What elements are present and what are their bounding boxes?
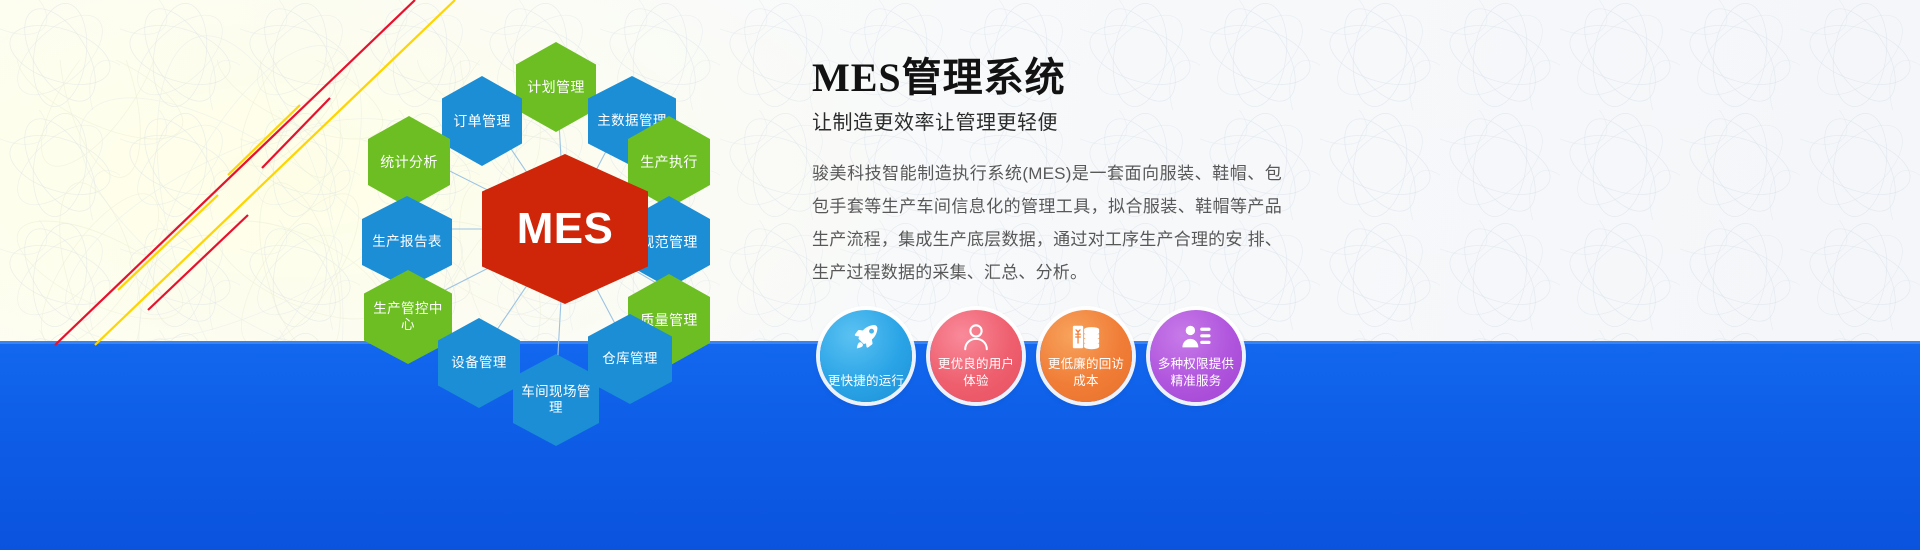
feature-badge-2[interactable]: 更低廉的回访成本: [1040, 310, 1132, 402]
feature-badge-3[interactable]: 多种权限提供精准服务: [1150, 310, 1242, 402]
page-title: MES管理系统: [812, 56, 1282, 100]
user-icon: [961, 322, 991, 352]
mes-banner: 计划管理 订单管理 主数据管理 生产执行 统计分析 规范管理 生产报告表 质量管…: [0, 0, 1920, 550]
hex-node-label: 设备管理: [447, 355, 511, 371]
hex-node-label: 统计分析: [376, 154, 442, 171]
feature-badge-0[interactable]: 更快捷的运行: [820, 310, 912, 402]
page-description: 骏美科技智能制造执行系统(MES)是一套面向服装、鞋帽、包包手套等生产车间信息化…: [812, 157, 1282, 290]
feature-badge-label: 更快捷的运行: [822, 373, 910, 402]
money-stack-icon: [1071, 322, 1101, 352]
hex-node-label: 生产报告表: [368, 234, 446, 250]
hex-node-label: 生产执行: [636, 154, 702, 171]
feature-badge-label: 多种权限提供精准服务: [1152, 356, 1240, 402]
page-subtitle: 让制造更效率让管理更轻便: [812, 106, 1282, 135]
hex-node-label: 仓库管理: [598, 351, 662, 367]
hex-center-label: MES: [513, 203, 618, 255]
rocket-icon: [851, 322, 881, 352]
hex-node-label: 订单管理: [449, 113, 515, 130]
hex-node-label: 计划管理: [523, 79, 589, 96]
mes-hexagon-diagram: 计划管理 订单管理 主数据管理 生产执行 统计分析 规范管理 生产报告表 质量管…: [330, 14, 800, 444]
feature-badge-1[interactable]: 更优良的用户体验: [930, 310, 1022, 402]
banner-text-block: MES管理系统 让制造更效率让管理更轻便 骏美科技智能制造执行系统(MES)是一…: [812, 56, 1282, 290]
hex-node-label: 车间现场管理: [513, 384, 599, 416]
user-list-icon: [1181, 322, 1211, 352]
feature-badge-label: 更低廉的回访成本: [1042, 356, 1130, 402]
feature-badge-list: 更快捷的运行 更优良的用户体验: [820, 310, 1242, 402]
feature-badge-label: 更优良的用户体验: [932, 356, 1020, 402]
hex-node-label: 生产管控中心: [364, 301, 452, 333]
